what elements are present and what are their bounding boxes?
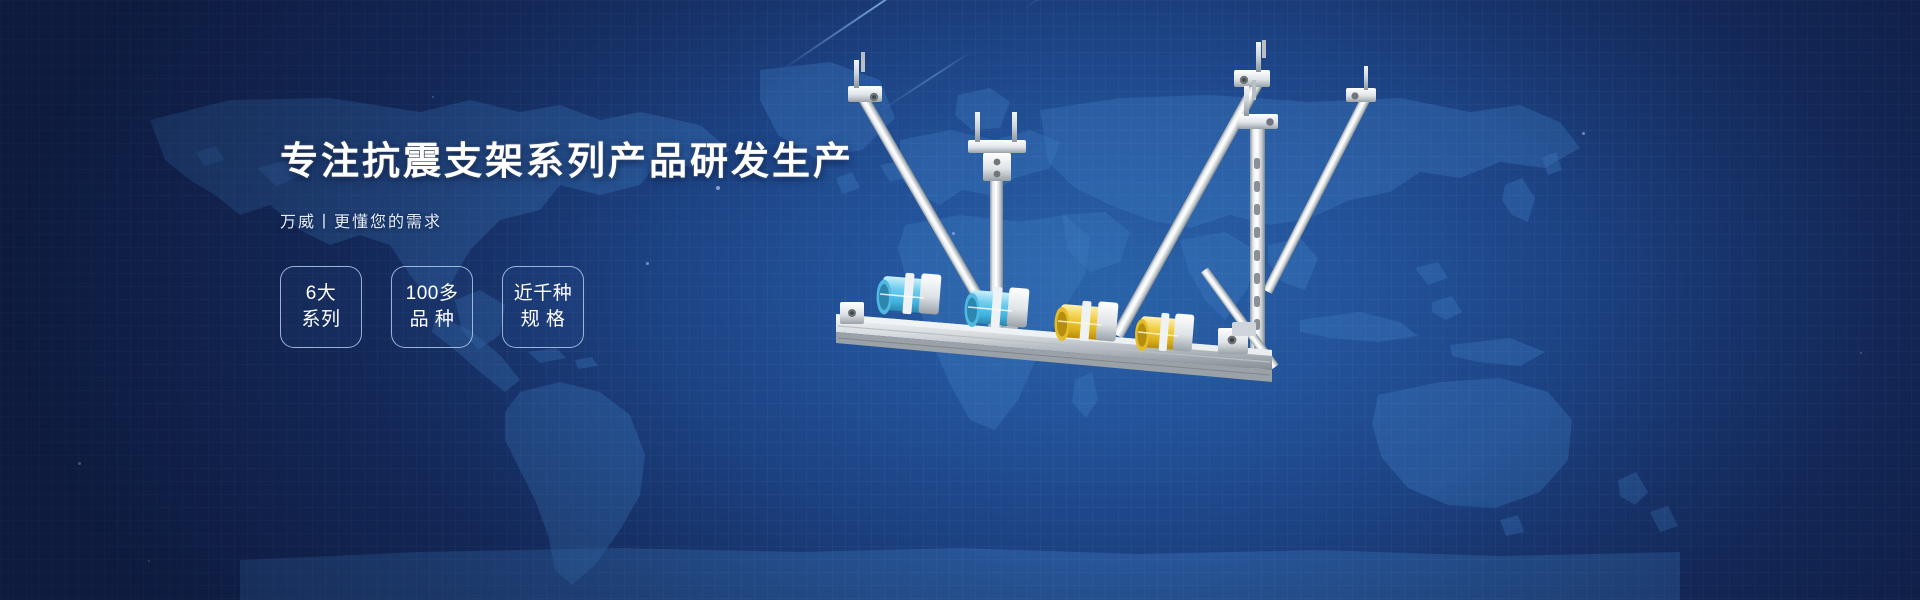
page-title: 专注抗震支架系列产品研发生产 — [280, 140, 800, 186]
ceiling-bracket-center — [968, 112, 1026, 181]
pipe-blue-2 — [965, 287, 1030, 328]
banner-copy: 专注抗震支架系列产品研发生产 万威丨更懂您的需求 6大 系列 100多 品 种 … — [280, 140, 800, 348]
banner-subtitle: 万威丨更懂您的需求 — [280, 208, 800, 232]
badge-series-line1: 6大 — [306, 281, 337, 307]
pipe-yellow-2 — [1135, 313, 1194, 352]
badge-varieties[interactable]: 100多 品 种 — [391, 266, 473, 348]
star-dot — [148, 560, 150, 562]
badge-specifications-line1: 近千种 — [514, 281, 573, 307]
brace-strut-outer-right — [1263, 66, 1376, 294]
channel-beam — [836, 314, 1272, 382]
badge-specifications[interactable]: 近千种 规 格 — [502, 266, 584, 348]
badge-group: 6大 系列 100多 品 种 近千种 规 格 — [280, 266, 800, 348]
star-dot — [78, 462, 81, 465]
pipe-yellow-1 — [1055, 301, 1119, 342]
badge-varieties-line2: 品 种 — [410, 307, 455, 333]
star-dot — [1860, 352, 1862, 354]
badge-series-line2: 系列 — [301, 307, 340, 333]
hero-banner: 专注抗震支架系列产品研发生产 万威丨更懂您的需求 6大 系列 100多 品 种 … — [0, 0, 1920, 600]
beam-joint-left — [840, 302, 864, 324]
brace-strut-right — [1112, 40, 1270, 339]
star-dot — [432, 96, 434, 98]
pipe-blue-1 — [877, 273, 942, 315]
badge-series[interactable]: 6大 系列 — [280, 266, 362, 348]
star-dot — [1582, 132, 1585, 135]
badge-varieties-line1: 100多 — [406, 281, 459, 307]
badge-specifications-line2: 规 格 — [521, 307, 566, 333]
product-image-seismic-bracket — [820, 40, 1460, 440]
